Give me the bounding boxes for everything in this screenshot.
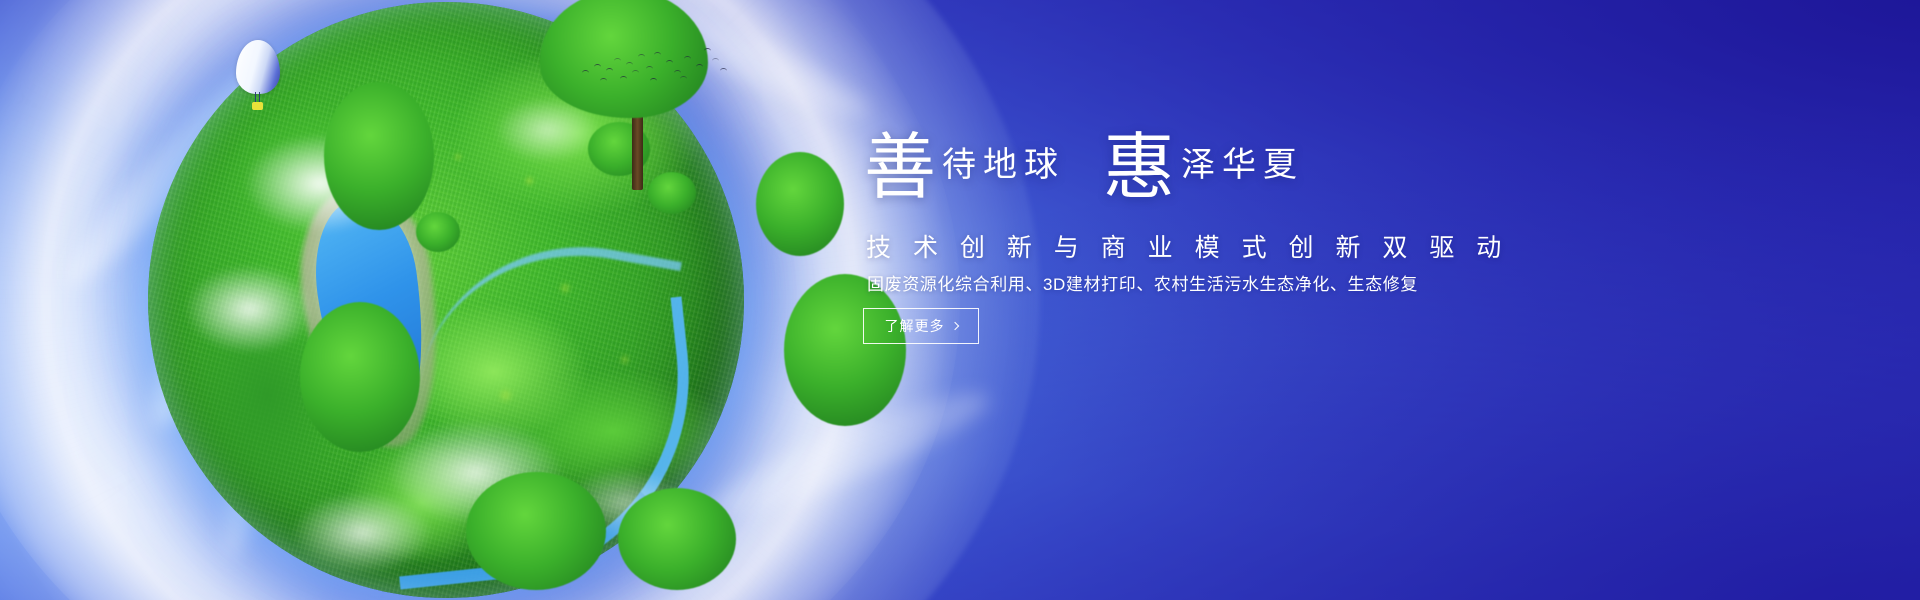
bird-icon (600, 78, 607, 81)
bird-icon (696, 64, 703, 67)
balloon-envelope (236, 40, 280, 94)
chevron-right-icon (950, 321, 958, 329)
headline-regular-2: 泽华夏 (1181, 147, 1304, 184)
bird-icon (594, 64, 601, 67)
bird-icon (650, 78, 657, 81)
tree-icon (648, 172, 696, 214)
bird-icon (626, 62, 633, 65)
bird-icon (666, 60, 673, 63)
hero-banner: 善待地球惠泽华夏 技 术 创 新 与 商 业 模 式 创 新 双 驱 动 固废资… (0, 0, 1920, 600)
bird-icon (620, 76, 627, 79)
page-subtitle: 技 术 创 新 与 商 业 模 式 创 新 双 驱 动 (866, 228, 1509, 264)
bird-icon (606, 68, 613, 71)
bird-icon (684, 56, 691, 59)
tree-icon (618, 488, 736, 590)
bird-icon (582, 70, 589, 73)
tree-icon (324, 82, 434, 230)
bird-icon (632, 70, 639, 73)
hot-air-balloon-icon (236, 40, 280, 114)
bird-icon (704, 48, 711, 51)
balloon-basket (252, 102, 263, 110)
bird-icon (654, 52, 661, 55)
headline-brush-char-2: 惠 (1103, 128, 1175, 208)
tree-icon (466, 472, 606, 590)
bird-icon (646, 66, 653, 69)
hero-content: 善待地球惠泽华夏 技 术 创 新 与 商 业 模 式 创 新 双 驱 动 固废资… (860, 0, 1560, 600)
learn-more-label: 了解更多 (885, 316, 945, 336)
page-description: 固废资源化综合利用、3D建材打印、农村生活污水生态净化、生态修复 (867, 270, 1418, 295)
headline-brush-char-1: 善 (864, 128, 936, 208)
bird-icon (638, 54, 645, 57)
tree-icon (300, 302, 420, 452)
tree-icon (756, 152, 844, 256)
page-title: 善待地球惠泽华夏 (864, 132, 1304, 204)
bird-icon (680, 76, 687, 79)
bird-icon (720, 68, 727, 71)
tree-icon (416, 212, 460, 252)
bird-icon (674, 70, 681, 73)
bird-flock-icon (580, 44, 720, 90)
headline-regular-1: 待地球 (942, 147, 1065, 184)
learn-more-button[interactable]: 了解更多 (863, 308, 979, 344)
bird-icon (614, 58, 621, 61)
bird-icon (712, 58, 719, 61)
